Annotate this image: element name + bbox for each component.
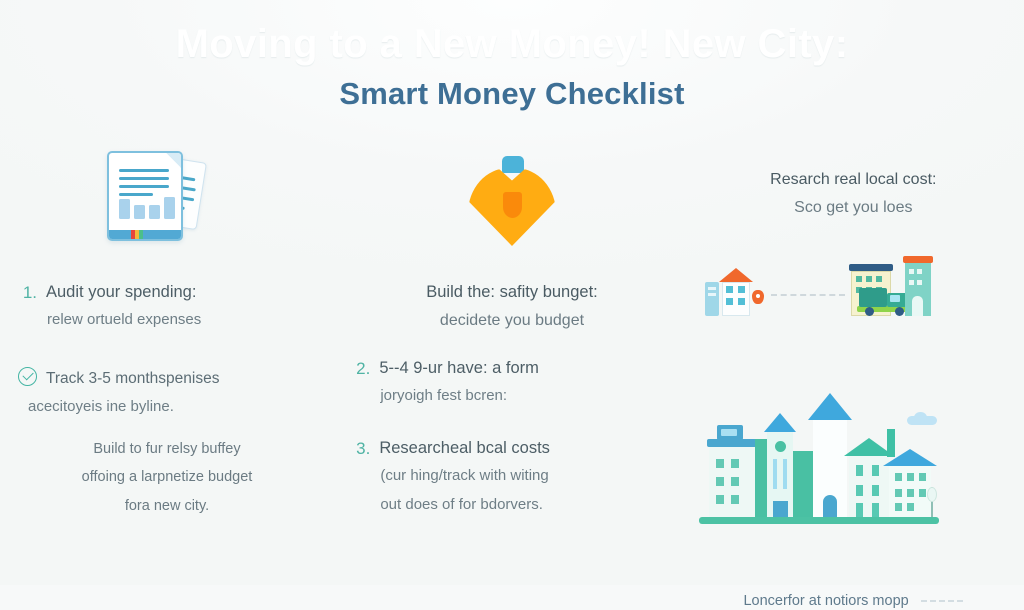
shield-emblem-icon <box>503 192 522 218</box>
item-3-subtitle-line-2: out does of for bdorvers. <box>351 491 651 520</box>
right-lead-line-1: Resarch real local cost: <box>683 166 1024 194</box>
item-3-title: Researcheal bcal costs <box>379 436 550 462</box>
checklist-item-1[interactable]: 1. Audit your spending: relew ortueld ex… <box>18 280 318 335</box>
item-2-subtitle: joryoigh fest bcren: <box>351 382 651 411</box>
city-skyline-icon <box>699 402 939 524</box>
right-lead-line-2: Sco get you loes <box>683 194 1024 222</box>
item-3-subtitle-line-1: (cur hing/track with witing <box>351 462 651 491</box>
item-1-number: 1. <box>18 280 37 306</box>
middle-lead-line-1: Build the: safity bunget: <box>341 278 682 307</box>
skyline-cloud-icon <box>907 412 937 425</box>
middle-lead-line-2: decidete you budget <box>341 307 682 335</box>
checklist-item-3[interactable]: 3. Researcheal bcal costs (cur hing/trac… <box>351 436 651 519</box>
skyline-building-3 <box>793 451 813 517</box>
bag-handle <box>502 156 524 173</box>
check-circle-icon <box>18 367 37 386</box>
page-subtitle: Smart Money Checklist <box>0 76 1024 112</box>
city-caption: Loncerfor at notiors mopp <box>743 593 908 609</box>
middle-lead-text: Build the: safity bunget: decidete you b… <box>341 278 682 335</box>
checklist-item-2[interactable]: 2. 5--4 9-ur have: a form joryoigh fest … <box>351 356 651 411</box>
right-lead-text: Resarch real local cost: Sco get you loe… <box>683 166 1024 222</box>
left-paragraph-line-2: offoing a larpnetize budget <box>12 463 322 491</box>
moving-truck-relocation-icon <box>699 244 929 318</box>
column-middle: Build the: safity bunget: decidete you b… <box>341 140 682 570</box>
columns-container: 1. Audit your spending: relew ortueld ex… <box>0 140 1024 570</box>
far-tower-icon <box>903 256 933 316</box>
skyline-tall-tower <box>813 419 847 517</box>
left-paragraph: Build to fur relsy buffey offoing a larp… <box>12 435 322 520</box>
skyline-ground <box>699 517 939 524</box>
skyline-tree-icon <box>927 487 937 517</box>
caption-dashed-line <box>921 600 963 602</box>
safety-bag-shield-icon <box>341 156 682 250</box>
route-dashed-line <box>771 294 845 296</box>
checklist-check-item[interactable]: Track 3-5 monthspenises acecitoyeis ine … <box>18 364 318 422</box>
left-paragraph-line-3: fora new city. <box>12 492 322 520</box>
infographic-canvas: Moving to a New Money! New City: Smart M… <box>0 0 1024 585</box>
column-left: 1. Audit your spending: relew ortueld ex… <box>0 140 341 570</box>
item-1-title: Audit your spending: <box>46 280 196 306</box>
documents-icon <box>38 148 268 244</box>
item-1-subtitle: relew ortueld expenses <box>18 306 318 335</box>
check-item-line2: acecitoyeis ine byline. <box>18 393 318 422</box>
document-front-sheet <box>107 151 183 241</box>
column-right: Resarch real local cost: Sco get you loe… <box>683 140 1024 570</box>
origin-house-icon <box>705 260 767 316</box>
item-2-number: 2. <box>351 356 370 382</box>
page-title: Moving to a New Money! New City: <box>0 22 1024 67</box>
item-2-title: 5--4 9-ur have: a form <box>379 356 539 382</box>
skyline-building-2 <box>755 439 767 517</box>
skyline-clock-tower <box>767 431 793 517</box>
skyline-building-1 <box>709 447 755 517</box>
left-paragraph-line-1: Build to fur relsy buffey <box>12 435 322 463</box>
skyline-building-5 <box>889 465 931 517</box>
item-3-number: 3. <box>351 436 370 462</box>
check-item-line1: Track 3-5 monthspenises <box>46 364 219 393</box>
